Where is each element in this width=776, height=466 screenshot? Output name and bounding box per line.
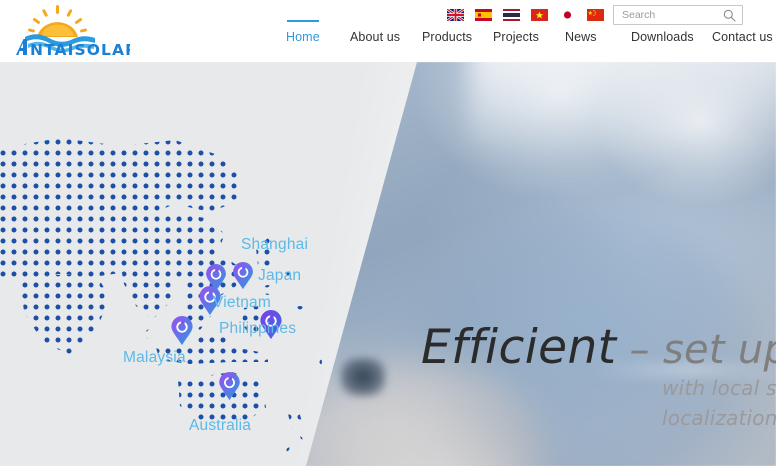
map-label-australia: Australia xyxy=(189,417,251,435)
hero-subline-2: localization se xyxy=(662,406,776,430)
flag-thailand-icon[interactable] xyxy=(503,8,520,20)
nav-item-downloads[interactable]: Downloads xyxy=(631,26,712,44)
site-header: NTAISOLAR xyxy=(0,0,776,62)
search-icon[interactable] xyxy=(723,9,736,22)
map-label-shanghai: Shanghai xyxy=(241,236,308,254)
search-box[interactable] xyxy=(613,5,743,25)
main-nav[interactable]: Home About us Products Projects News Dow… xyxy=(286,26,776,44)
flag-spain-icon[interactable] xyxy=(475,8,492,20)
nav-item-home[interactable]: Home xyxy=(286,26,350,44)
flag-china-icon[interactable] xyxy=(587,8,604,20)
page-root: NTAISOLAR xyxy=(0,0,776,466)
map-pin-japan[interactable] xyxy=(232,262,254,290)
site-logo[interactable]: NTAISOLAR xyxy=(12,3,130,57)
map-label-japan: Japan xyxy=(258,267,301,285)
photo-wrist-watch xyxy=(341,358,385,396)
flag-japan-icon[interactable] xyxy=(559,8,576,20)
nav-item-contact-us[interactable]: Contact us xyxy=(712,26,776,44)
nav-item-products[interactable]: Products xyxy=(422,26,493,44)
hero-banner: Shanghai Japan Vietnam Philippines Malay… xyxy=(0,62,776,466)
map-label-philippines: Philippines xyxy=(219,320,296,338)
hero-headline-light: – set up offices xyxy=(616,327,776,373)
map-pin-malaysia[interactable] xyxy=(170,316,194,346)
flag-united-kingdom-icon[interactable] xyxy=(447,8,464,20)
hero-subline-1: with local staff xyxy=(662,376,776,400)
search-input[interactable] xyxy=(614,6,722,24)
photo-highlight xyxy=(470,62,776,162)
nav-item-news[interactable]: News xyxy=(565,26,631,44)
language-flag-bar[interactable] xyxy=(447,7,604,21)
map-pin-australia[interactable] xyxy=(218,372,241,401)
hero-headline-strong: Efficient xyxy=(421,320,616,375)
flag-vietnam-icon[interactable] xyxy=(531,8,548,20)
hero-headline: Efficient – set up offices xyxy=(421,320,776,375)
map-label-malaysia: Malaysia xyxy=(123,349,186,367)
map-label-vietnam: Vietnam xyxy=(213,294,271,312)
svg-text:NTAISOLAR: NTAISOLAR xyxy=(30,41,130,57)
nav-item-projects[interactable]: Projects xyxy=(493,26,565,44)
nav-item-about-us[interactable]: About us xyxy=(350,26,422,44)
